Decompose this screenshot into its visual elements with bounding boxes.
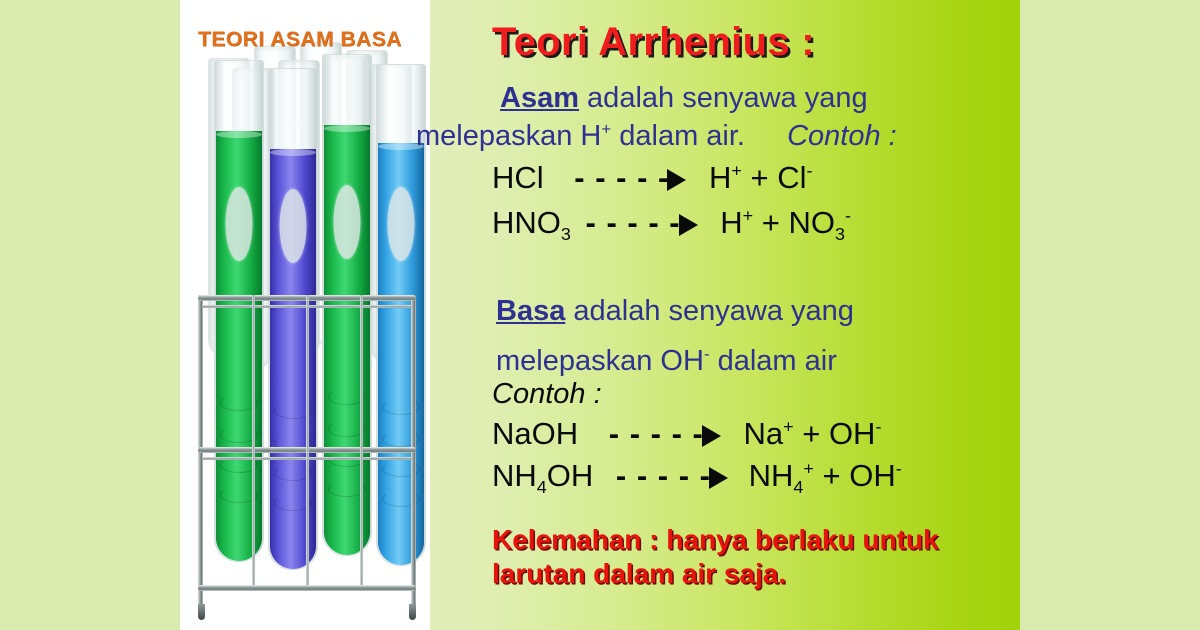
arrow-dashes: - - - - - <box>586 205 681 241</box>
acid-eq2-reactant: HNO3 <box>492 205 571 240</box>
meniscus <box>216 131 262 138</box>
slide-caption: TEORI ASAM BASA <box>198 28 438 52</box>
meniscus <box>324 125 370 132</box>
reaction-arrow-icon: - - - - - <box>586 205 698 241</box>
arrow-head <box>702 425 721 447</box>
arrow-head <box>667 169 686 191</box>
acid-definition-text-2a: melepaskan H <box>416 120 601 152</box>
photo-panel <box>180 0 430 630</box>
acid-example-label: Contoh : <box>787 120 897 152</box>
reaction-arrow-icon: - - - - - <box>616 458 728 494</box>
acid-definition-line-1: Asam adalah senyawa yang <box>500 82 868 115</box>
base-eq1-reactant: NaOH <box>492 416 578 451</box>
base-eq1-products: Na+ + OH- <box>743 416 881 451</box>
rack-bar-bottom <box>198 585 416 591</box>
rack-divider-6 <box>360 447 363 585</box>
rack-divider-1 <box>252 295 255 447</box>
rack-divider-4 <box>252 447 255 585</box>
tube-label-sticker <box>388 187 415 261</box>
acid-equation-2: HNO3 - - - - - H+ + NO3- <box>492 205 851 243</box>
base-definition-text-1: adalah senyawa yang <box>565 295 854 327</box>
base-equation-2: NH4OH - - - - - NH4+ + OH- <box>492 458 902 496</box>
test-tube-rack-photo <box>180 40 430 600</box>
acid-eq2-products: H+ + NO3- <box>720 205 851 240</box>
acid-definition-text-1: adalah senyawa yang <box>579 82 868 114</box>
acid-term: Asam <box>500 82 579 114</box>
acid-definition-line-2: melepaskan H+ dalam air. Contoh : <box>416 120 897 153</box>
base-equation-1: NaOH - - - - - Na+ + OH- <box>492 416 881 454</box>
tube-label-sticker <box>334 185 361 259</box>
wire-rack <box>198 295 416 610</box>
acid-eq1-reactant: HCl <box>492 160 544 195</box>
conclusion-line-1: Kelemahan : hanya berlaku untuk <box>492 524 939 556</box>
meniscus <box>270 149 316 156</box>
conclusion-line-2: larutan dalam air saja. <box>492 558 786 590</box>
base-eq2-products: NH4+ + OH- <box>749 458 902 493</box>
rack-divider-2 <box>306 295 309 447</box>
rack-foot-right <box>409 604 416 620</box>
base-example-label: Contoh : <box>492 378 602 411</box>
acid-charge-superscript: + <box>601 119 611 138</box>
reaction-arrow-icon: - - - - - <box>574 160 686 196</box>
arrow-dashes: - - - - - <box>574 160 669 196</box>
arrow-dashes: - - - - - <box>616 458 711 494</box>
base-definition-text-2b: dalam air <box>710 345 837 377</box>
acid-eq1-products: H+ + Cl- <box>709 160 812 195</box>
text-column: Teori Arrhenius : Asam adalah senyawa ya… <box>430 0 1020 630</box>
slide-root: TEORI ASAM BASA Teori Arrhenius : Asam a… <box>0 0 1200 630</box>
rack-divider-3 <box>360 295 363 447</box>
acid-equation-1: HCl - - - - - H+ + Cl- <box>492 160 812 198</box>
arrow-head <box>679 214 698 236</box>
tube-label-sticker <box>280 189 307 263</box>
base-definition-line-2: melepaskan OH- dalam air <box>496 345 837 378</box>
arrow-dashes: - - - - - <box>609 416 704 452</box>
rack-foot-left <box>198 604 205 620</box>
base-definition-text-2a: melepaskan OH <box>496 345 704 377</box>
rack-divider-5 <box>306 447 309 585</box>
tube-label-sticker <box>226 187 253 261</box>
reaction-arrow-icon: - - - - - <box>609 416 721 452</box>
acid-definition-text-2b: dalam air. <box>611 120 745 152</box>
page-title: Teori Arrhenius : <box>492 20 815 65</box>
base-term: Basa <box>496 295 565 327</box>
arrow-head <box>709 467 728 489</box>
base-definition-line-1: Basa adalah senyawa yang <box>496 295 854 328</box>
base-eq2-reactant: NH4OH <box>492 458 593 493</box>
